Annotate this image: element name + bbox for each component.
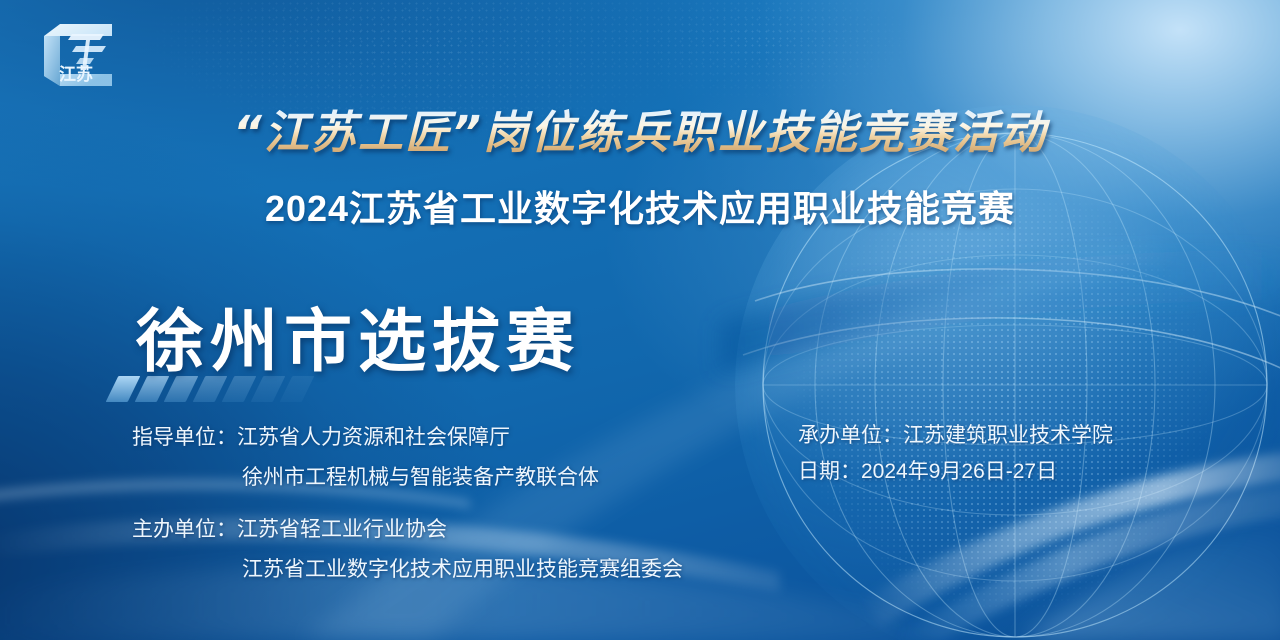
credit-label: 日期：: [798, 460, 861, 483]
credit-value: 2024年9月26日-27日: [861, 460, 1057, 483]
credit-line: 主办单位：江苏省轻工业行业协会: [132, 510, 683, 550]
credit-line: 江苏省工业数字化技术应用职业技能竞赛组委会: [132, 550, 683, 590]
credit-value: 江苏建筑职业技术学院: [903, 424, 1113, 447]
event-heading: 徐州市选拔赛: [136, 286, 580, 385]
credits-right-block: 承办单位：江苏建筑职业技术学院 日期：2024年9月26日-27日: [798, 418, 1113, 490]
credit-line: 指导单位：江苏省人力资源和社会保障厅: [132, 418, 683, 458]
credit-line: 日期：2024年9月26日-27日: [798, 454, 1113, 490]
credit-label: 承办单位：: [798, 424, 903, 447]
credit-line: 承办单位：江苏建筑职业技术学院: [798, 418, 1113, 454]
event-banner: 江苏 “江苏工匠”岗位练兵职业技能竞赛活动 2024江苏省工业数字化技术应用职业…: [0, 0, 1280, 640]
credit-label: 主办单位：: [132, 518, 237, 541]
page-title: “江苏工匠”岗位练兵职业技能竞赛活动: [0, 96, 1280, 161]
credit-value: 江苏省轻工业行业协会: [237, 518, 447, 541]
credit-line: 徐州市工程机械与智能装备产教联合体: [132, 458, 683, 498]
page-subtitle: 2024江苏省工业数字化技术应用职业技能竞赛: [0, 180, 1280, 232]
credits-left-block: 指导单位：江苏省人力资源和社会保障厅 徐州市工程机械与智能装备产教联合体 主办单…: [132, 418, 683, 590]
logo-text: 江苏: [59, 64, 93, 85]
credit-value: 江苏省工业数字化技术应用职业技能竞赛组委会: [242, 558, 683, 581]
jiangsu-craftsman-logo: 江苏: [30, 14, 124, 98]
credit-value: 徐州市工程机械与智能装备产教联合体: [242, 466, 599, 489]
credit-value: 江苏省人力资源和社会保障厅: [237, 426, 510, 449]
credit-label: 指导单位：: [132, 426, 237, 449]
